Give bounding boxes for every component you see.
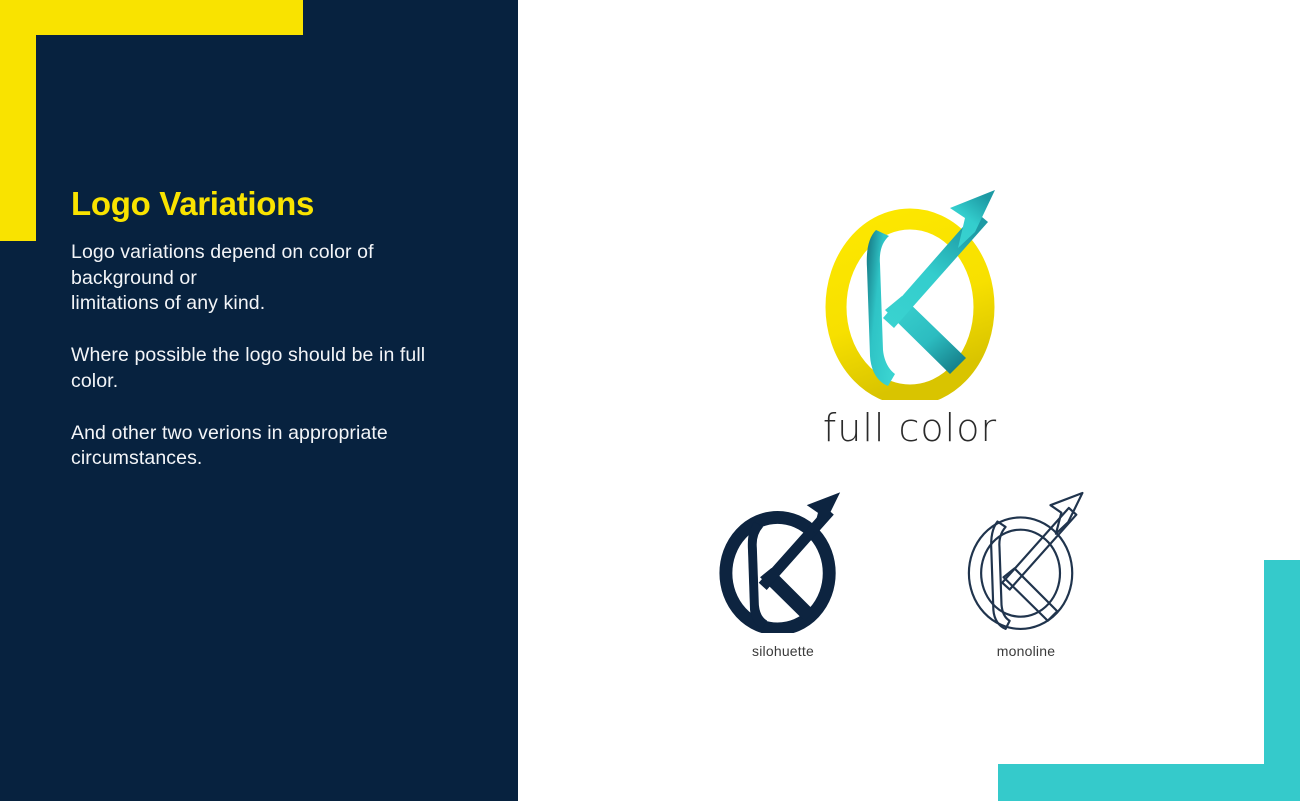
logo-variation-monoline: monoline (943, 478, 1109, 659)
logo-variation-silohuette: silohuette (700, 478, 866, 659)
teal-corner-bracket-horizontal (998, 764, 1300, 801)
panel-text-block: Logo Variations Logo variations depend o… (71, 186, 471, 472)
panel-paragraph-3: And other two verions in appropriate cir… (71, 421, 471, 472)
logo-caption-silohuette: silohuette (700, 643, 866, 659)
logo-caption-full-color: full color (790, 406, 1030, 450)
yellow-corner-bracket-horizontal (0, 0, 303, 35)
k-arrow-logo-silhouette-icon (700, 478, 866, 633)
yellow-corner-bracket-vertical (0, 0, 36, 241)
left-info-panel: Logo Variations Logo variations depend o… (0, 0, 518, 801)
panel-paragraph-1: Logo variations depend on color of backg… (71, 240, 471, 316)
panel-paragraph-2: Where possible the logo should be in ful… (71, 343, 471, 394)
logo-variation-full-color: full color (790, 160, 1030, 450)
logo-caption-monoline: monoline (943, 643, 1109, 659)
page-title: Logo Variations (71, 186, 471, 222)
k-arrow-logo-monoline-icon (943, 478, 1109, 633)
k-arrow-logo-full-color-icon (790, 160, 1030, 400)
